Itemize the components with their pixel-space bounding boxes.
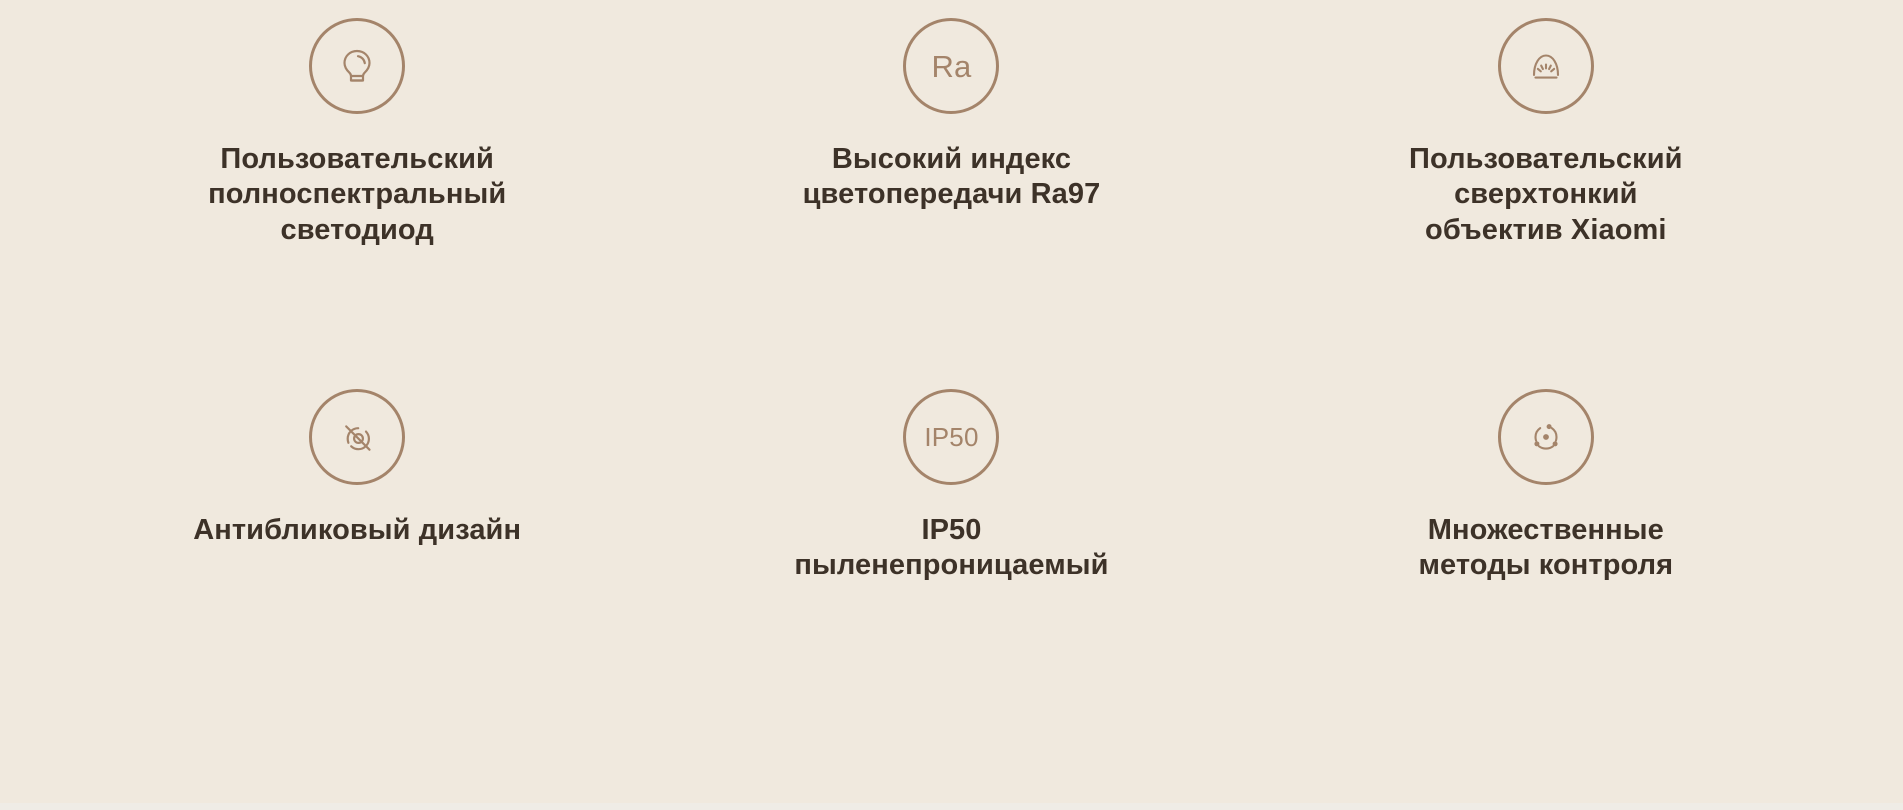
bottom-edge-divider: [0, 803, 1903, 810]
feature-item-led: Пользовательский полноспектральный свето…: [60, 18, 654, 389]
multi-control-orbit-icon: [1498, 389, 1594, 485]
lens-light-dome-icon: [1498, 18, 1594, 114]
feature-label: IP50 пыленепроницаемый: [794, 513, 1108, 584]
ip50-rating-icon-text: IP50: [924, 424, 978, 450]
feature-item-anti-glare: Антибликовый дизайн: [60, 389, 654, 760]
feature-item-ra97: Ra Высокий индекс цветопередачи Ra97: [654, 18, 1248, 389]
feature-label: Высокий индекс цветопередачи Ra97: [803, 142, 1101, 213]
feature-item-ip50: IP50 IP50 пыленепроницаемый: [654, 389, 1248, 760]
anti-glare-eye-off-icon: [309, 389, 405, 485]
feature-label: Пользовательский полноспектральный свето…: [208, 142, 506, 248]
ip50-rating-icon: IP50: [903, 389, 999, 485]
feature-label: Антибликовый дизайн: [193, 513, 521, 548]
feature-label: Множественные методы контроля: [1418, 513, 1673, 584]
feature-item-lens: Пользовательский сверхтонкий объектив Xi…: [1249, 18, 1843, 389]
feature-grid: Пользовательский полноспектральный свето…: [0, 0, 1903, 810]
ra-index-icon-text: Ra: [931, 51, 971, 82]
feature-label: Пользовательский сверхтонкий объектив Xi…: [1409, 142, 1683, 248]
ra-index-icon: Ra: [903, 18, 999, 114]
feature-item-multi-control: Множественные методы контроля: [1249, 389, 1843, 760]
lightbulb-icon: [309, 18, 405, 114]
